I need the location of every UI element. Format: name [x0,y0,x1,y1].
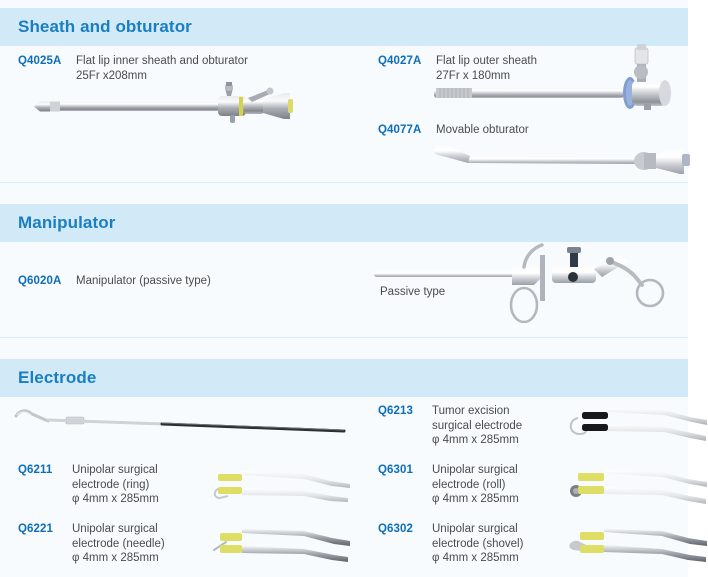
long-electrode-shaft-photo [14,406,348,440]
section-divider [0,337,688,338]
unipolar-surgical-electrode-shovel-photo [568,528,708,564]
section-header-manipulator: Manipulator [0,204,688,242]
product-description: Unipolar surgical electrode (roll) φ 4mm… [432,463,519,507]
unipolar-surgical-electrode-ring-photo [212,470,352,506]
manipulator-passive-type-photo [374,243,704,323]
section-divider [0,182,688,183]
section-title: Sheath and obturator [18,17,192,37]
product-code: Q4027A [378,55,421,67]
section-title: Electrode [18,368,96,388]
movable-obturator-photo [432,140,696,174]
flat-lip-outer-sheath-photo [434,44,696,110]
product-description: Tumor excision surgical electrode φ 4mm … [432,404,522,448]
tumor-excision-surgical-electrode-photo [568,408,708,444]
product-code: Q6221 [18,523,53,535]
product-code: Q4025A [18,55,61,67]
section-header-sheath-and-obturator: Sheath and obturator [0,8,688,46]
section-header-electrode: Electrode [0,359,688,397]
product-code: Q6301 [378,464,413,476]
product-code: Q6211 [18,464,52,476]
product-code: Q6213 [378,405,413,417]
unipolar-surgical-electrode-roll-photo [568,470,708,506]
product-description: Unipolar surgical electrode (needle) φ 4… [72,522,165,566]
catalog-page: Sheath and obturator Q4025A Flat lip inn… [0,0,708,577]
unipolar-surgical-electrode-needle-photo [212,528,352,564]
product-description: Unipolar surgical electrode (ring) φ 4mm… [72,463,159,507]
product-description: Movable obturator [436,123,529,138]
section-title: Manipulator [18,213,115,233]
product-code: Q6302 [378,523,413,535]
product-code: Q6020A [18,275,61,287]
flat-lip-inner-sheath-and-obturator-photo [34,82,294,128]
product-description: Unipolar surgical electrode (shovel) φ 4… [432,522,523,566]
product-description: Flat lip inner sheath and obturator 25Fr… [76,54,248,83]
product-code: Q4077A [378,124,421,136]
product-description: Manipulator (passive type) [76,274,211,289]
